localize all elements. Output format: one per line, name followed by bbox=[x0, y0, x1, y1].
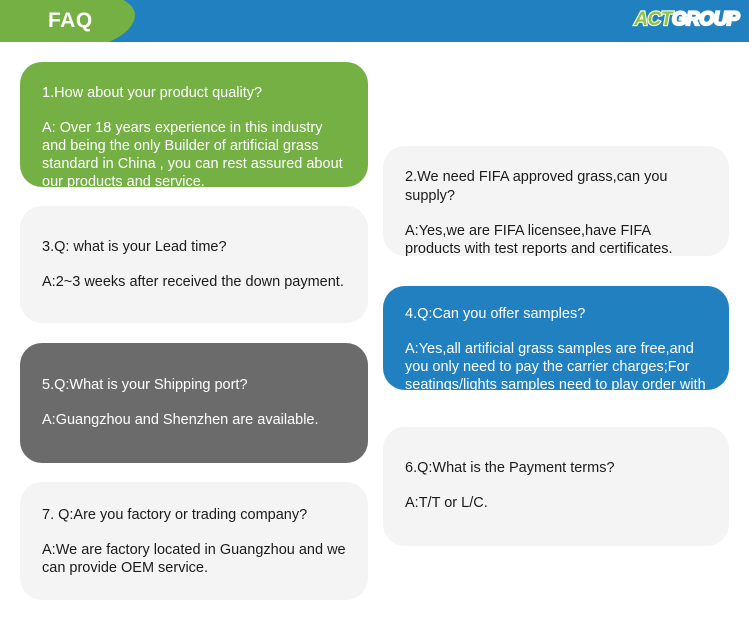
page-header: FAQ ACTGROUP bbox=[0, 0, 749, 42]
faq-question: 6.Q:What is the Payment terms? bbox=[405, 459, 707, 478]
faq-page: FAQ ACTGROUP 1.How about your product qu… bbox=[0, 0, 749, 629]
faq-answer: A:Yes,we are FIFA licensee,have FIFA pro… bbox=[405, 222, 707, 258]
faq-answer: A:2~3 weeks after received the down paym… bbox=[42, 273, 346, 291]
faq-question: 3.Q: what is your Lead time? bbox=[42, 238, 346, 257]
faq-question: 1.How about your product quality? bbox=[42, 84, 346, 103]
faq-card-5: 5.Q:What is your Shipping port? A:Guangz… bbox=[20, 343, 368, 463]
faq-card-4: 4.Q:Can you offer samples? A:Yes,all art… bbox=[383, 286, 729, 390]
page-title: FAQ bbox=[48, 9, 93, 33]
faq-question: 5.Q:What is your Shipping port? bbox=[42, 376, 346, 395]
faq-card-3: 3.Q: what is your Lead time? A:2~3 weeks… bbox=[20, 206, 368, 323]
logo-act-text: ACT bbox=[634, 9, 672, 30]
faq-question: 7. Q:Are you factory or trading company? bbox=[42, 506, 346, 525]
faq-card-6: 6.Q:What is the Payment terms? A:T/T or … bbox=[383, 427, 729, 546]
faq-answer: A:Guangzhou and Shenzhen are available. bbox=[42, 411, 346, 429]
faq-card-2: 2.We need FIFA approved grass,can you su… bbox=[383, 146, 729, 256]
faq-answer: A:Yes,all artificial grass samples are f… bbox=[405, 340, 707, 412]
faq-answer: A:We are factory located in Guangzhou an… bbox=[42, 541, 346, 577]
faq-answer: A:T/T or L/C. bbox=[405, 494, 707, 512]
logo-group-text: GROUP bbox=[672, 9, 739, 30]
faq-answer: A: Over 18 years experience in this indu… bbox=[42, 119, 346, 191]
faq-card-7: 7. Q:Are you factory or trading company?… bbox=[20, 482, 368, 600]
faq-question: 2.We need FIFA approved grass,can you su… bbox=[405, 168, 707, 206]
faq-card-1: 1.How about your product quality? A: Ove… bbox=[20, 62, 368, 187]
actgroup-logo: ACTGROUP bbox=[634, 9, 739, 31]
faq-question: 4.Q:Can you offer samples? bbox=[405, 305, 707, 324]
